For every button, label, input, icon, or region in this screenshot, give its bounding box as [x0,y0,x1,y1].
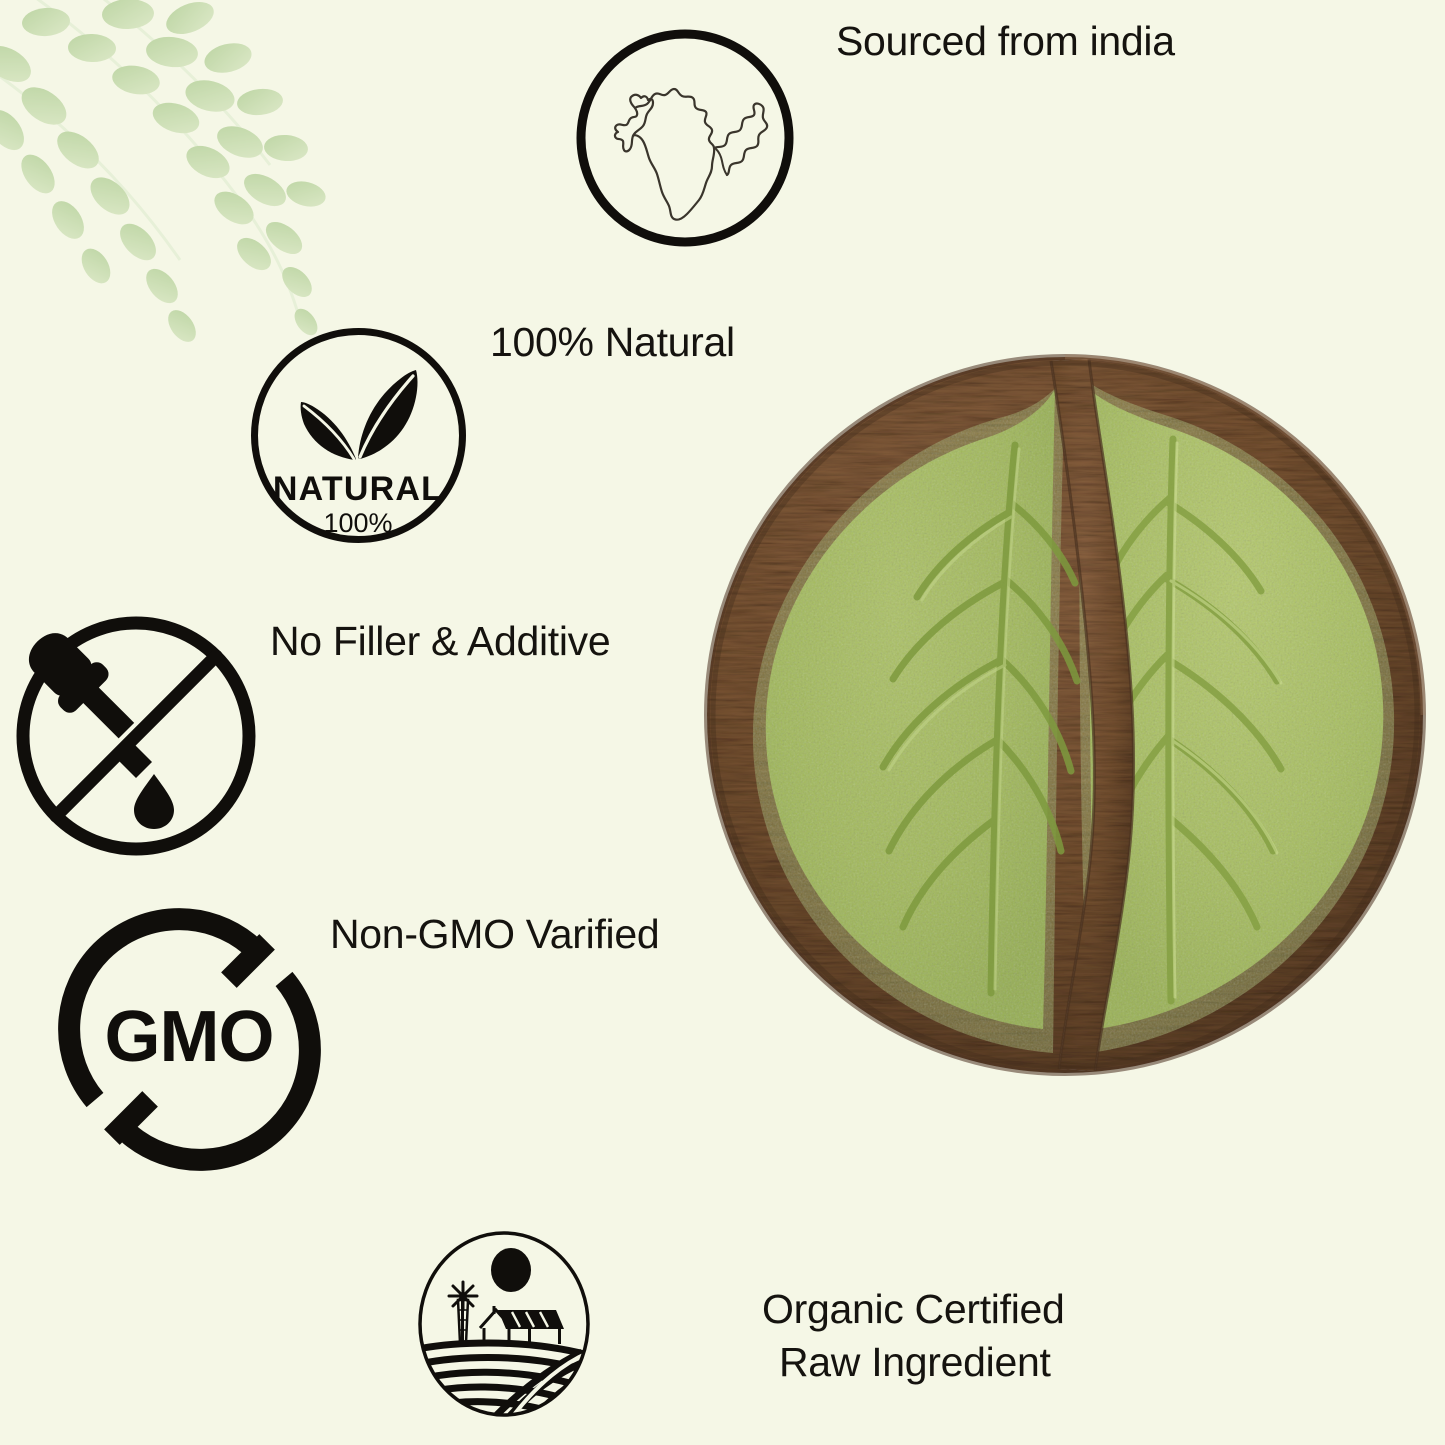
feature-label-organic-certified-line2: Raw Ingredient [779,1336,1051,1389]
svg-text:GMO: GMO [105,997,274,1077]
feature-label-organic-certified-line1: Organic Certified [762,1283,1065,1336]
feature-label-natural: 100% Natural [490,316,735,369]
no-dropper-additive-icon [12,612,260,860]
non-gmo-circle-icon: GMO [62,912,317,1167]
svg-text:NATURAL: NATURAL [273,470,443,508]
feature-label-sourced-from-india: Sourced from india [836,15,1175,68]
organic-farm-circle-icon [416,1228,592,1418]
feature-label-non-gmo: Non-GMO Varified [330,908,659,961]
svg-text:100%: 100% [323,508,392,538]
product-feature-infographic: Sourced from india NATURAL 100% 100% Nat… [0,0,1445,1445]
feature-label-no-filler: No Filler & Additive [270,615,610,668]
natural-leaf-badge-icon: NATURAL 100% [248,325,469,546]
moringa-powder-wooden-leaf-tray-image [703,353,1427,1077]
india-map-circle-icon [573,26,797,250]
moringa-leaf-branch-decoration [0,0,420,360]
